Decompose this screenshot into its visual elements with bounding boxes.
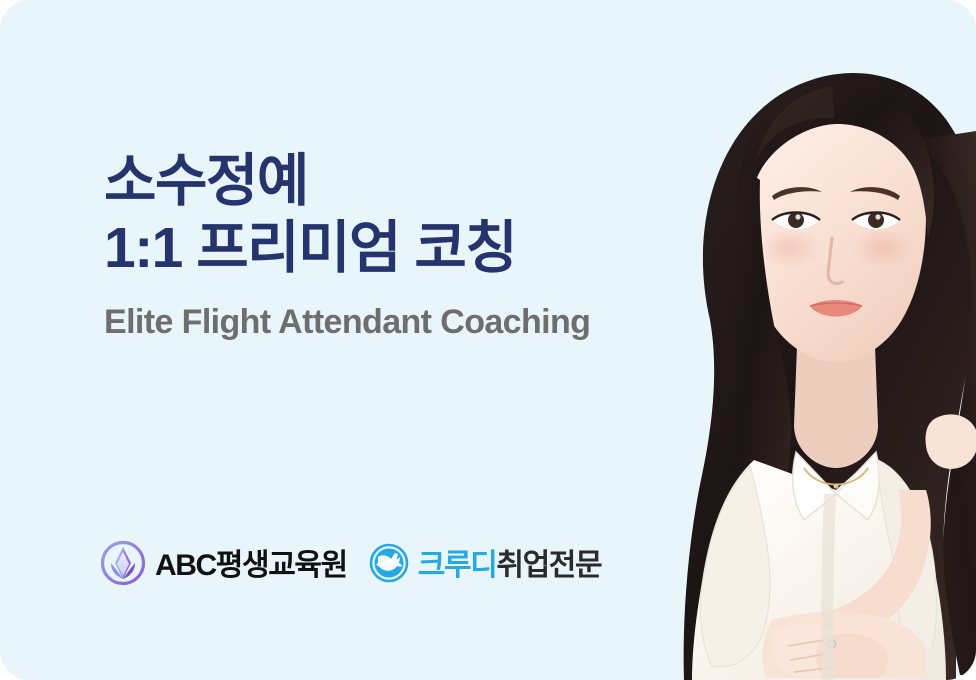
eye-right-iris [868,212,884,228]
necklace-pendant [833,483,838,488]
promo-banner: 소수정예 1:1 프리미엄 코칭 Elite Flight Attendant … [0,0,976,680]
hand-upper-right [925,414,976,468]
logo-abc-lifelong-education: ABC평생교육원 [100,540,347,591]
logo-label-crudi: 크루디취업전문 [418,551,601,581]
logo-label-abc: ABC평생교육원 [155,551,347,581]
cheek-right [852,228,912,268]
headline-line-1: 소수정예 [104,148,590,215]
logo-crudi-employment: 크루디취업전문 [369,543,601,588]
globe-airplane-icon [369,543,409,588]
logo-label-crudi-brand: 크루디 [418,549,497,582]
flight-attendant-photo [626,20,976,680]
logo-label-crudi-sub: 취업전문 [496,549,601,582]
cheek-left [760,228,820,268]
eye-left-iris [788,212,804,228]
page-title: 소수정예 1:1 프리미엄 코칭 [104,148,590,283]
copy-block: 소수정예 1:1 프리미엄 코칭 Elite Flight Attendant … [104,148,590,342]
headline-line-2: 1:1 프리미엄 코칭 [104,215,590,282]
eye-right-glint [875,214,880,219]
logo-row: ABC평생교육원 크루디취업전문 [100,540,601,591]
photo-illustration [626,20,976,680]
abc-diamond-leaf-icon [100,540,146,591]
subtitle: Elite Flight Attendant Coaching [104,303,590,342]
eye-left-glint [795,214,800,219]
